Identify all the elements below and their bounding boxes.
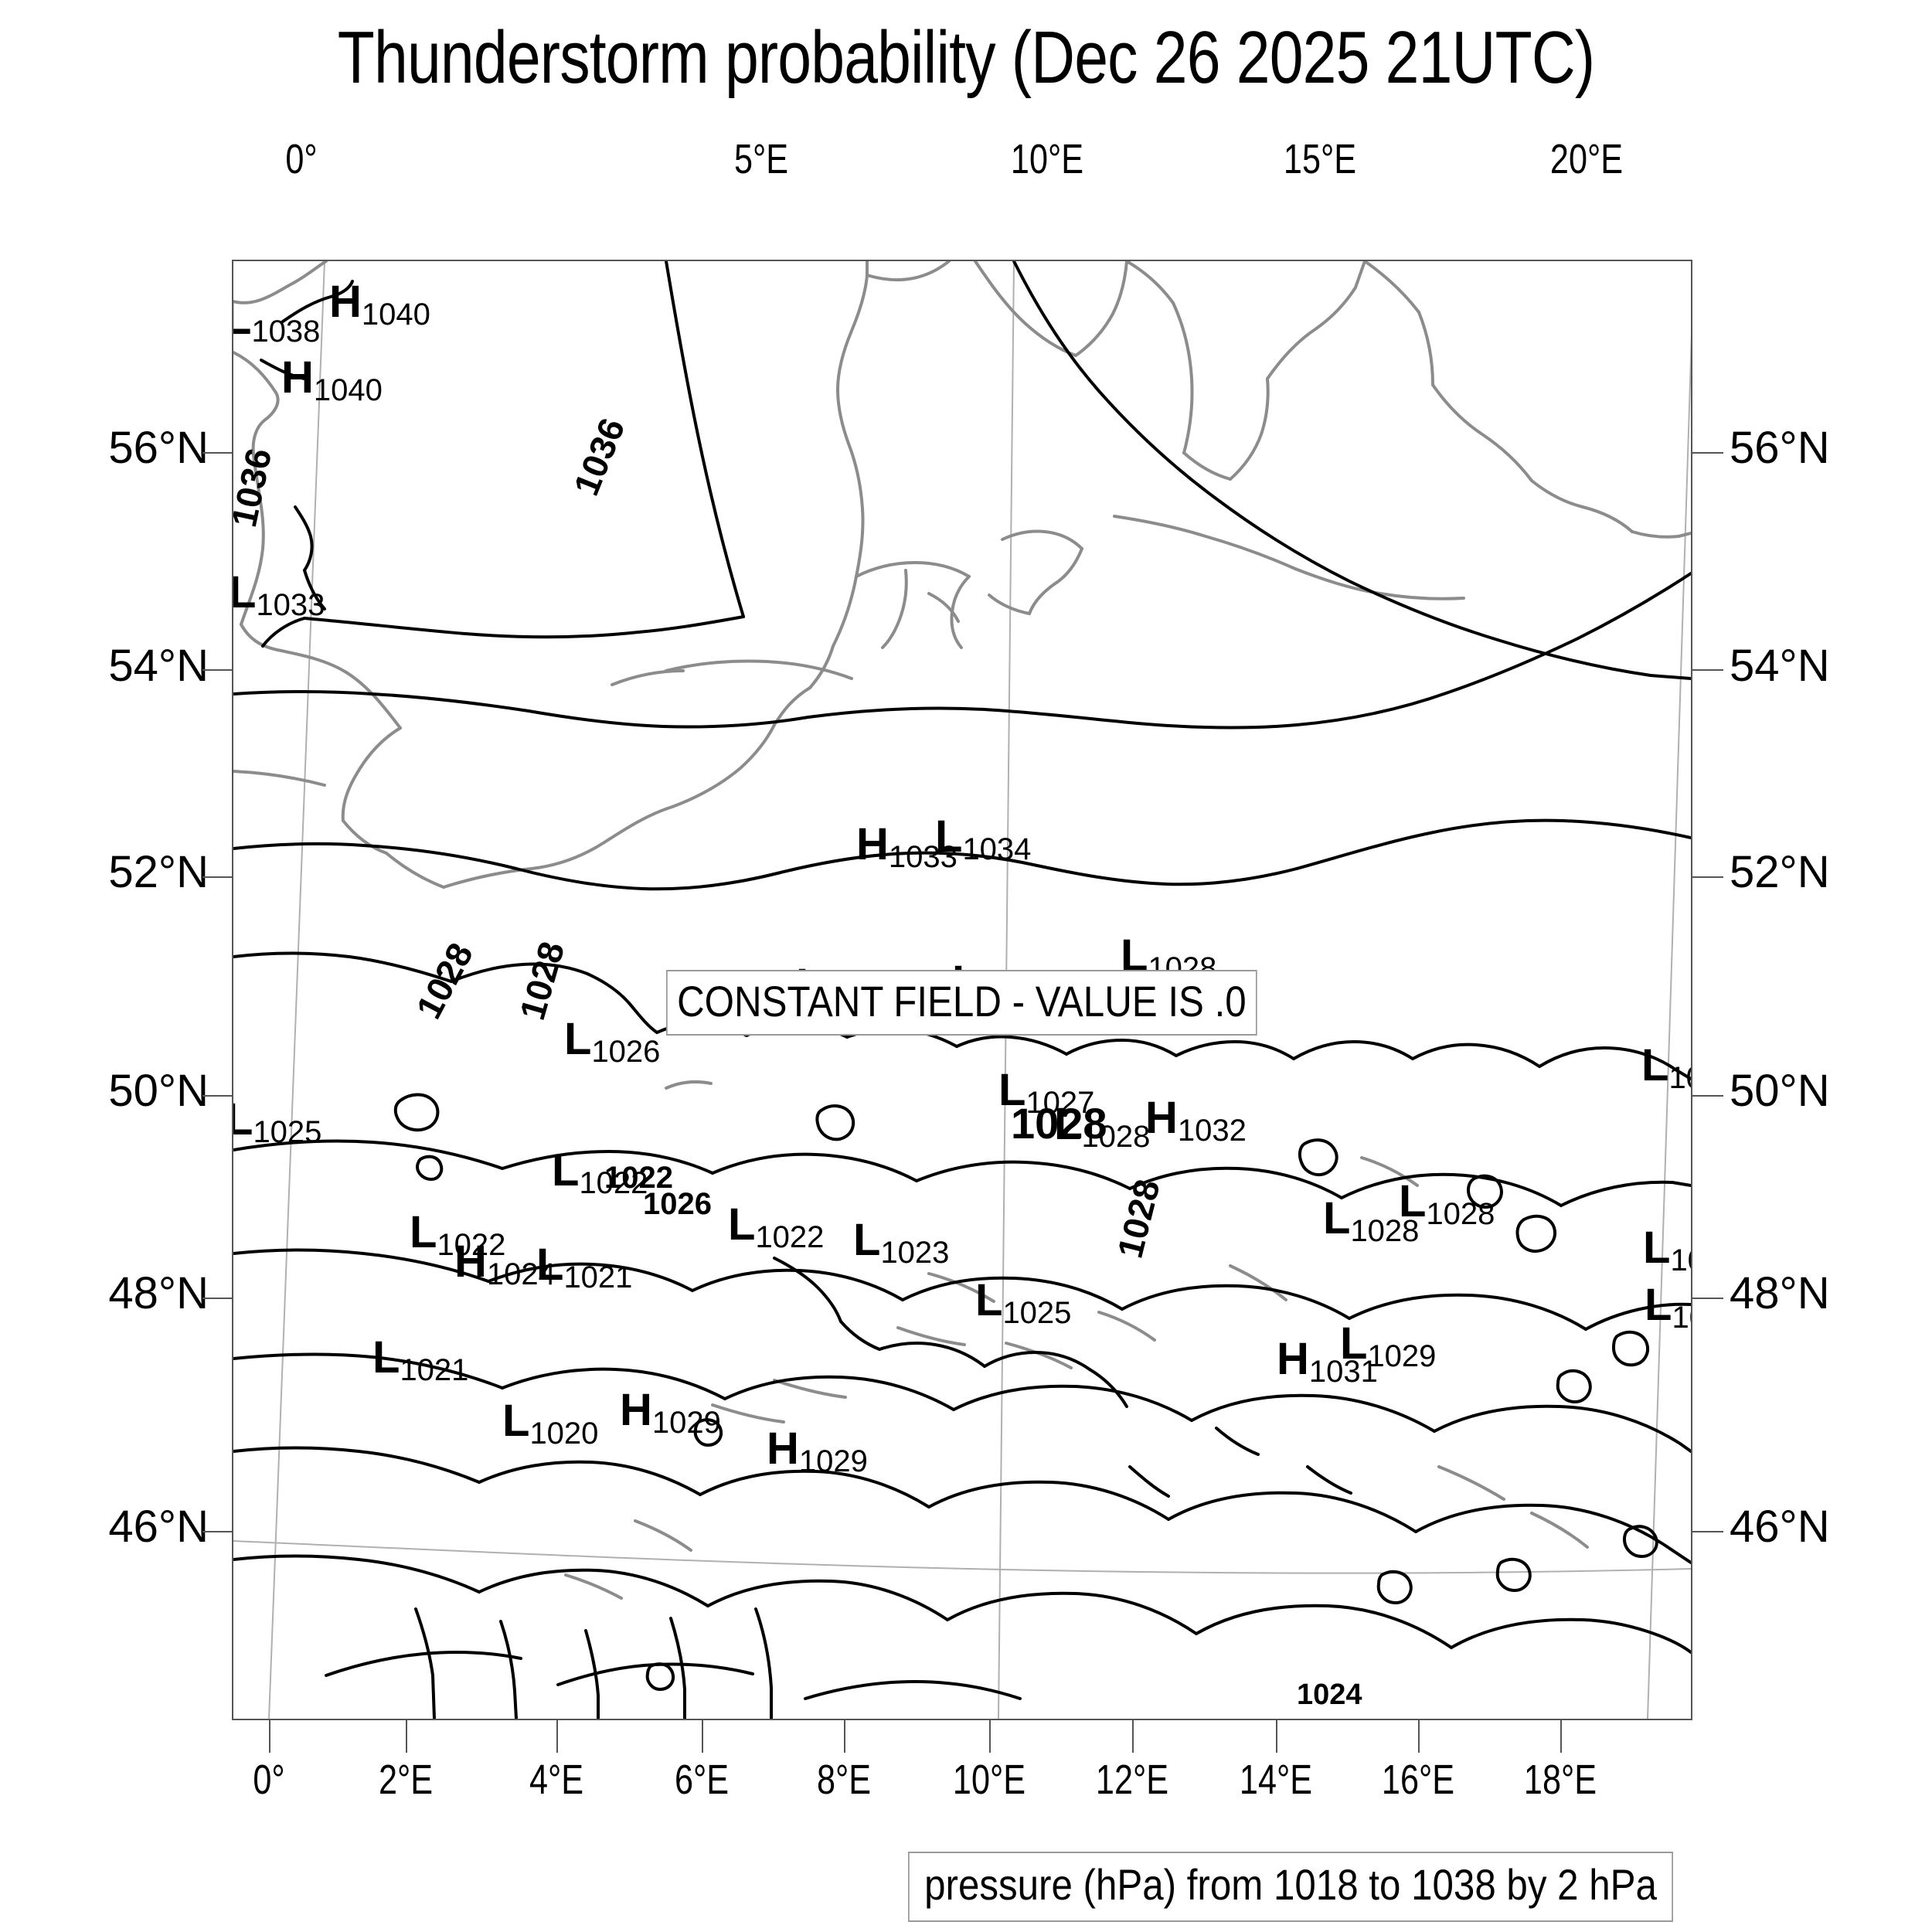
weather-chart-page: Thunderstorm probability (Dec 26 2025 21… (0, 0, 1932, 1932)
high-symbol: H (767, 1423, 799, 1474)
low-symbol: L (536, 1240, 563, 1290)
low-symbol: L (552, 1145, 579, 1196)
tick-bottom-8 (844, 1720, 845, 1753)
tick-left-54 (202, 669, 233, 671)
pressure-center-L-1025-s: L1025 (975, 1278, 1071, 1323)
right-lat-label-5: 46°N (1730, 1501, 1892, 1553)
tick-right-46 (1692, 1531, 1723, 1532)
pressure-value: 1028 (1670, 1243, 1692, 1277)
high-symbol: H (281, 352, 314, 403)
pressure-value: 1033 (256, 588, 325, 622)
pressure-value: 1034 (962, 832, 1031, 866)
low-symbol: L (410, 1207, 437, 1257)
tick-left-52 (202, 876, 233, 878)
left-lat-label-3: 50°N (46, 1065, 209, 1117)
bottom-axis-label-9: 18°E (1502, 1756, 1619, 1804)
low-symbol: L (1340, 1318, 1367, 1369)
pressure-center-L-1021-b: L1021 (372, 1335, 468, 1380)
pressure-value: 1021 (400, 1353, 468, 1387)
high-symbol: H (454, 1236, 487, 1287)
pressure-value: 1021 (563, 1260, 632, 1294)
pressure-value: 1040 (314, 373, 383, 407)
high-symbol: H (856, 819, 889, 869)
pressure-center-L-1034: L1034 (935, 815, 1031, 859)
pressure-value: 1020 (529, 1417, 598, 1451)
top-axis-label-1: 5°E (706, 135, 817, 183)
tick-left-56 (202, 452, 233, 454)
right-lat-label-1: 54°N (1730, 640, 1892, 692)
coastline-layer (233, 261, 1691, 1598)
tick-left-50 (202, 1095, 233, 1097)
bottom-axis-label-1: 2°E (350, 1756, 461, 1804)
high-symbol: H (329, 277, 362, 327)
right-lat-label-2: 52°N (1730, 846, 1892, 898)
tick-bottom-0 (269, 1720, 270, 1753)
pressure-center-L-1028-r: L1028 (1399, 1179, 1495, 1224)
contour-label-1026-inline: 1026 (643, 1189, 712, 1219)
bottom-axis-label-0: 0° (213, 1756, 325, 1804)
right-lat-label-4: 48°N (1730, 1267, 1892, 1319)
bottom-axis-label-2: 4°E (501, 1756, 612, 1804)
pressure-center-H-1029-a: H1029 (620, 1388, 721, 1433)
pressure-center-H-1040-b: H1040 (281, 355, 383, 400)
low-symbol: L (853, 1215, 880, 1265)
top-axis-label-0: 0° (246, 135, 357, 183)
pressure-center-L-1028-edge: L1028 (1643, 1226, 1692, 1270)
high-symbol: H (1145, 1093, 1178, 1143)
tick-right-54 (1692, 669, 1723, 671)
pressure-center-L-1029-se: L1029 (1340, 1321, 1436, 1366)
right-lat-label-3: 50°N (1730, 1065, 1892, 1117)
tick-left-46 (202, 1531, 233, 1532)
pressure-value: 1029 (652, 1406, 721, 1440)
tick-bottom-10 (989, 1720, 991, 1753)
tick-right-56 (1692, 452, 1723, 454)
left-lat-label-1: 54°N (46, 640, 209, 692)
constant-field-banner: CONSTANT FIELD - VALUE IS .0 (666, 970, 1257, 1036)
pressure-value: 1038 (251, 315, 320, 349)
tick-right-50 (1692, 1095, 1723, 1097)
top-axis-label-4: 20°E (1531, 135, 1642, 183)
bottom-axis-label-5: 10°E (930, 1756, 1048, 1804)
top-axis-label-3: 15°E (1264, 135, 1376, 183)
low-symbol: L (502, 1396, 529, 1446)
tick-right-52 (1692, 876, 1723, 878)
tick-bottom-6 (702, 1720, 703, 1753)
tick-bottom-14 (1276, 1720, 1277, 1753)
tick-bottom-12 (1132, 1720, 1134, 1753)
pressure-center-L-1023: L1023 (853, 1218, 949, 1263)
left-lat-label-4: 48°N (46, 1267, 209, 1319)
high-symbol: H (1277, 1334, 1309, 1384)
pressure-value: 1028 (1426, 1197, 1495, 1231)
contour-label-1028-big: 1028 (1011, 1102, 1107, 1145)
pressure-value: 1040 (362, 298, 430, 332)
tick-bottom-4 (556, 1720, 558, 1753)
pressure-value: 1025 (253, 1115, 321, 1149)
left-lat-label-0: 56°N (46, 422, 209, 474)
legend-pressure-range: pressure (hPa) from 1018 to 1038 by 2 hP… (908, 1852, 1673, 1922)
pressure-center-L-1026: L1026 (564, 1017, 660, 1062)
page-title: Thunderstorm probability (Dec 26 2025 21… (174, 15, 1758, 100)
tick-bottom-18 (1560, 1720, 1562, 1753)
low-symbol: L (1323, 1193, 1350, 1243)
pressure-value: 1029 (1367, 1339, 1436, 1373)
pressure-value: 1029 (799, 1444, 868, 1478)
low-symbol: L (1643, 1223, 1670, 1273)
bottom-axis-label-3: 6°E (646, 1756, 757, 1804)
contour-label-1024-bottom: 1024 (1297, 1680, 1362, 1709)
pressure-center-L-1033: L1033 (232, 570, 325, 615)
pressure-center-H-1029-b: H1029 (767, 1427, 868, 1471)
low-symbol: L (1645, 1280, 1672, 1330)
pressure-value: 1029 (1672, 1301, 1692, 1335)
bottom-axis-label-8: 16°E (1359, 1756, 1477, 1804)
pressure-center-H-1040-a: H1040 (329, 280, 430, 325)
low-symbol: L (232, 1094, 253, 1145)
pressure-center-L-1022-c: L1022 (728, 1202, 824, 1247)
tick-bottom-16 (1418, 1720, 1420, 1753)
low-symbol: L (232, 567, 256, 617)
high-symbol: H (620, 1385, 652, 1435)
pressure-value: 1022 (755, 1220, 824, 1254)
left-lat-label-2: 52°N (46, 846, 209, 898)
pressure-center-L-1027-edge: L1027 (1641, 1043, 1692, 1088)
low-symbol: L (1641, 1040, 1668, 1090)
right-lat-label-0: 56°N (1730, 422, 1892, 474)
tick-left-48 (202, 1298, 233, 1299)
pressure-center-L-1038: L1038 (232, 297, 320, 342)
low-symbol: L (975, 1275, 1002, 1325)
bottom-axis-label-7: 14°E (1217, 1756, 1335, 1804)
left-lat-label-5: 46°N (46, 1501, 209, 1553)
low-symbol: L (1399, 1176, 1426, 1226)
tick-right-48 (1692, 1298, 1723, 1299)
low-symbol: L (935, 811, 962, 862)
pressure-center-L-1029-edge: L1029 (1645, 1283, 1692, 1328)
pressure-value: 1026 (591, 1035, 660, 1069)
pressure-value: 1025 (1002, 1296, 1071, 1330)
pressure-center-L-1025-w: L1025 (232, 1097, 321, 1142)
bottom-axis-label-6: 12°E (1073, 1756, 1191, 1804)
low-symbol: L (564, 1014, 591, 1064)
low-symbol: L (232, 294, 251, 344)
low-symbol: L (372, 1332, 400, 1383)
pressure-center-L-1021-a: L1021 (536, 1243, 632, 1287)
pressure-center-L-1020: L1020 (502, 1399, 598, 1444)
pressure-value: 1023 (880, 1236, 949, 1270)
pressure-value: 1027 (1668, 1061, 1692, 1095)
pressure-center-H-1032: H1032 (1145, 1096, 1247, 1141)
top-axis-label-2: 10°E (992, 135, 1103, 183)
low-symbol: L (728, 1199, 755, 1250)
tick-bottom-2 (406, 1720, 407, 1753)
bottom-axis-label-4: 8°E (788, 1756, 900, 1804)
pressure-value: 1032 (1178, 1114, 1247, 1148)
